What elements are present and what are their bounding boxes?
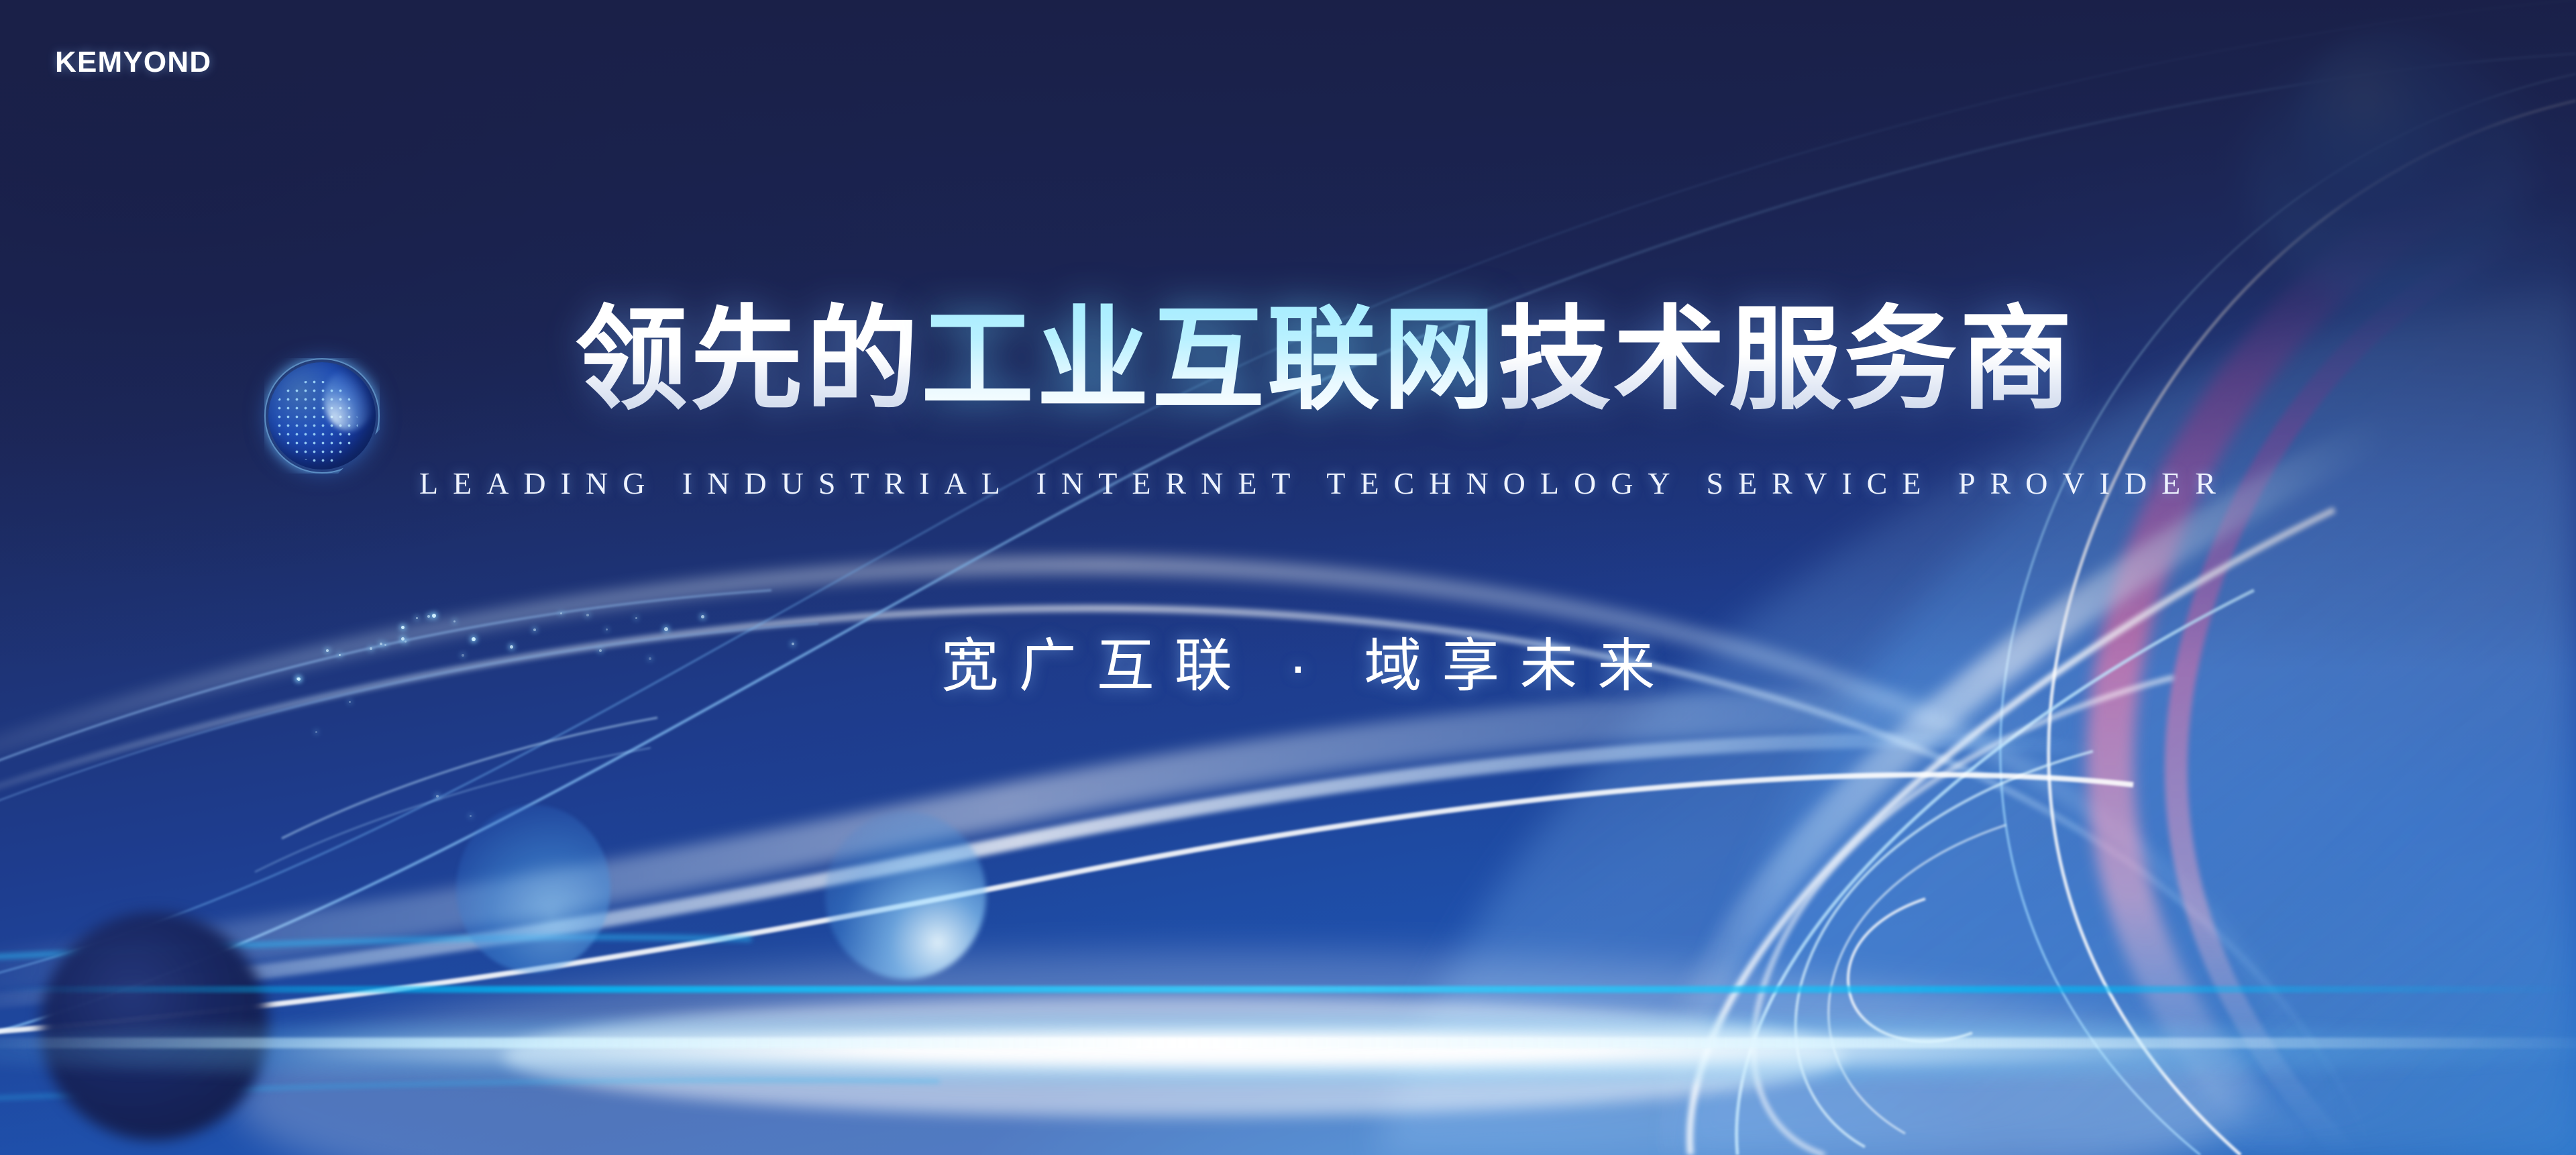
headline-segment-industrial-internet: 工业互联网	[921, 296, 1498, 423]
subtitle-english: LEADING INDUSTRIAL INTERNET TECHNOLOGY S…	[0, 465, 2576, 501]
headline-segment-leading: 领先的	[575, 296, 921, 423]
sparkle-particles	[0, 0, 2576, 1155]
tagline: 宽广互联 · 域享未来	[0, 618, 2576, 702]
brand-logo[interactable]: KEMYOND	[55, 46, 211, 79]
headline-segment-tech-service: 技术服务商	[1498, 296, 2075, 423]
page-title: 领先的工业互联网技术服务商	[0, 296, 2576, 423]
promo-banner: KEMYOND 领先的工业互联网技术服务商 LEADING INDUSTRIAL…	[0, 0, 2576, 1155]
